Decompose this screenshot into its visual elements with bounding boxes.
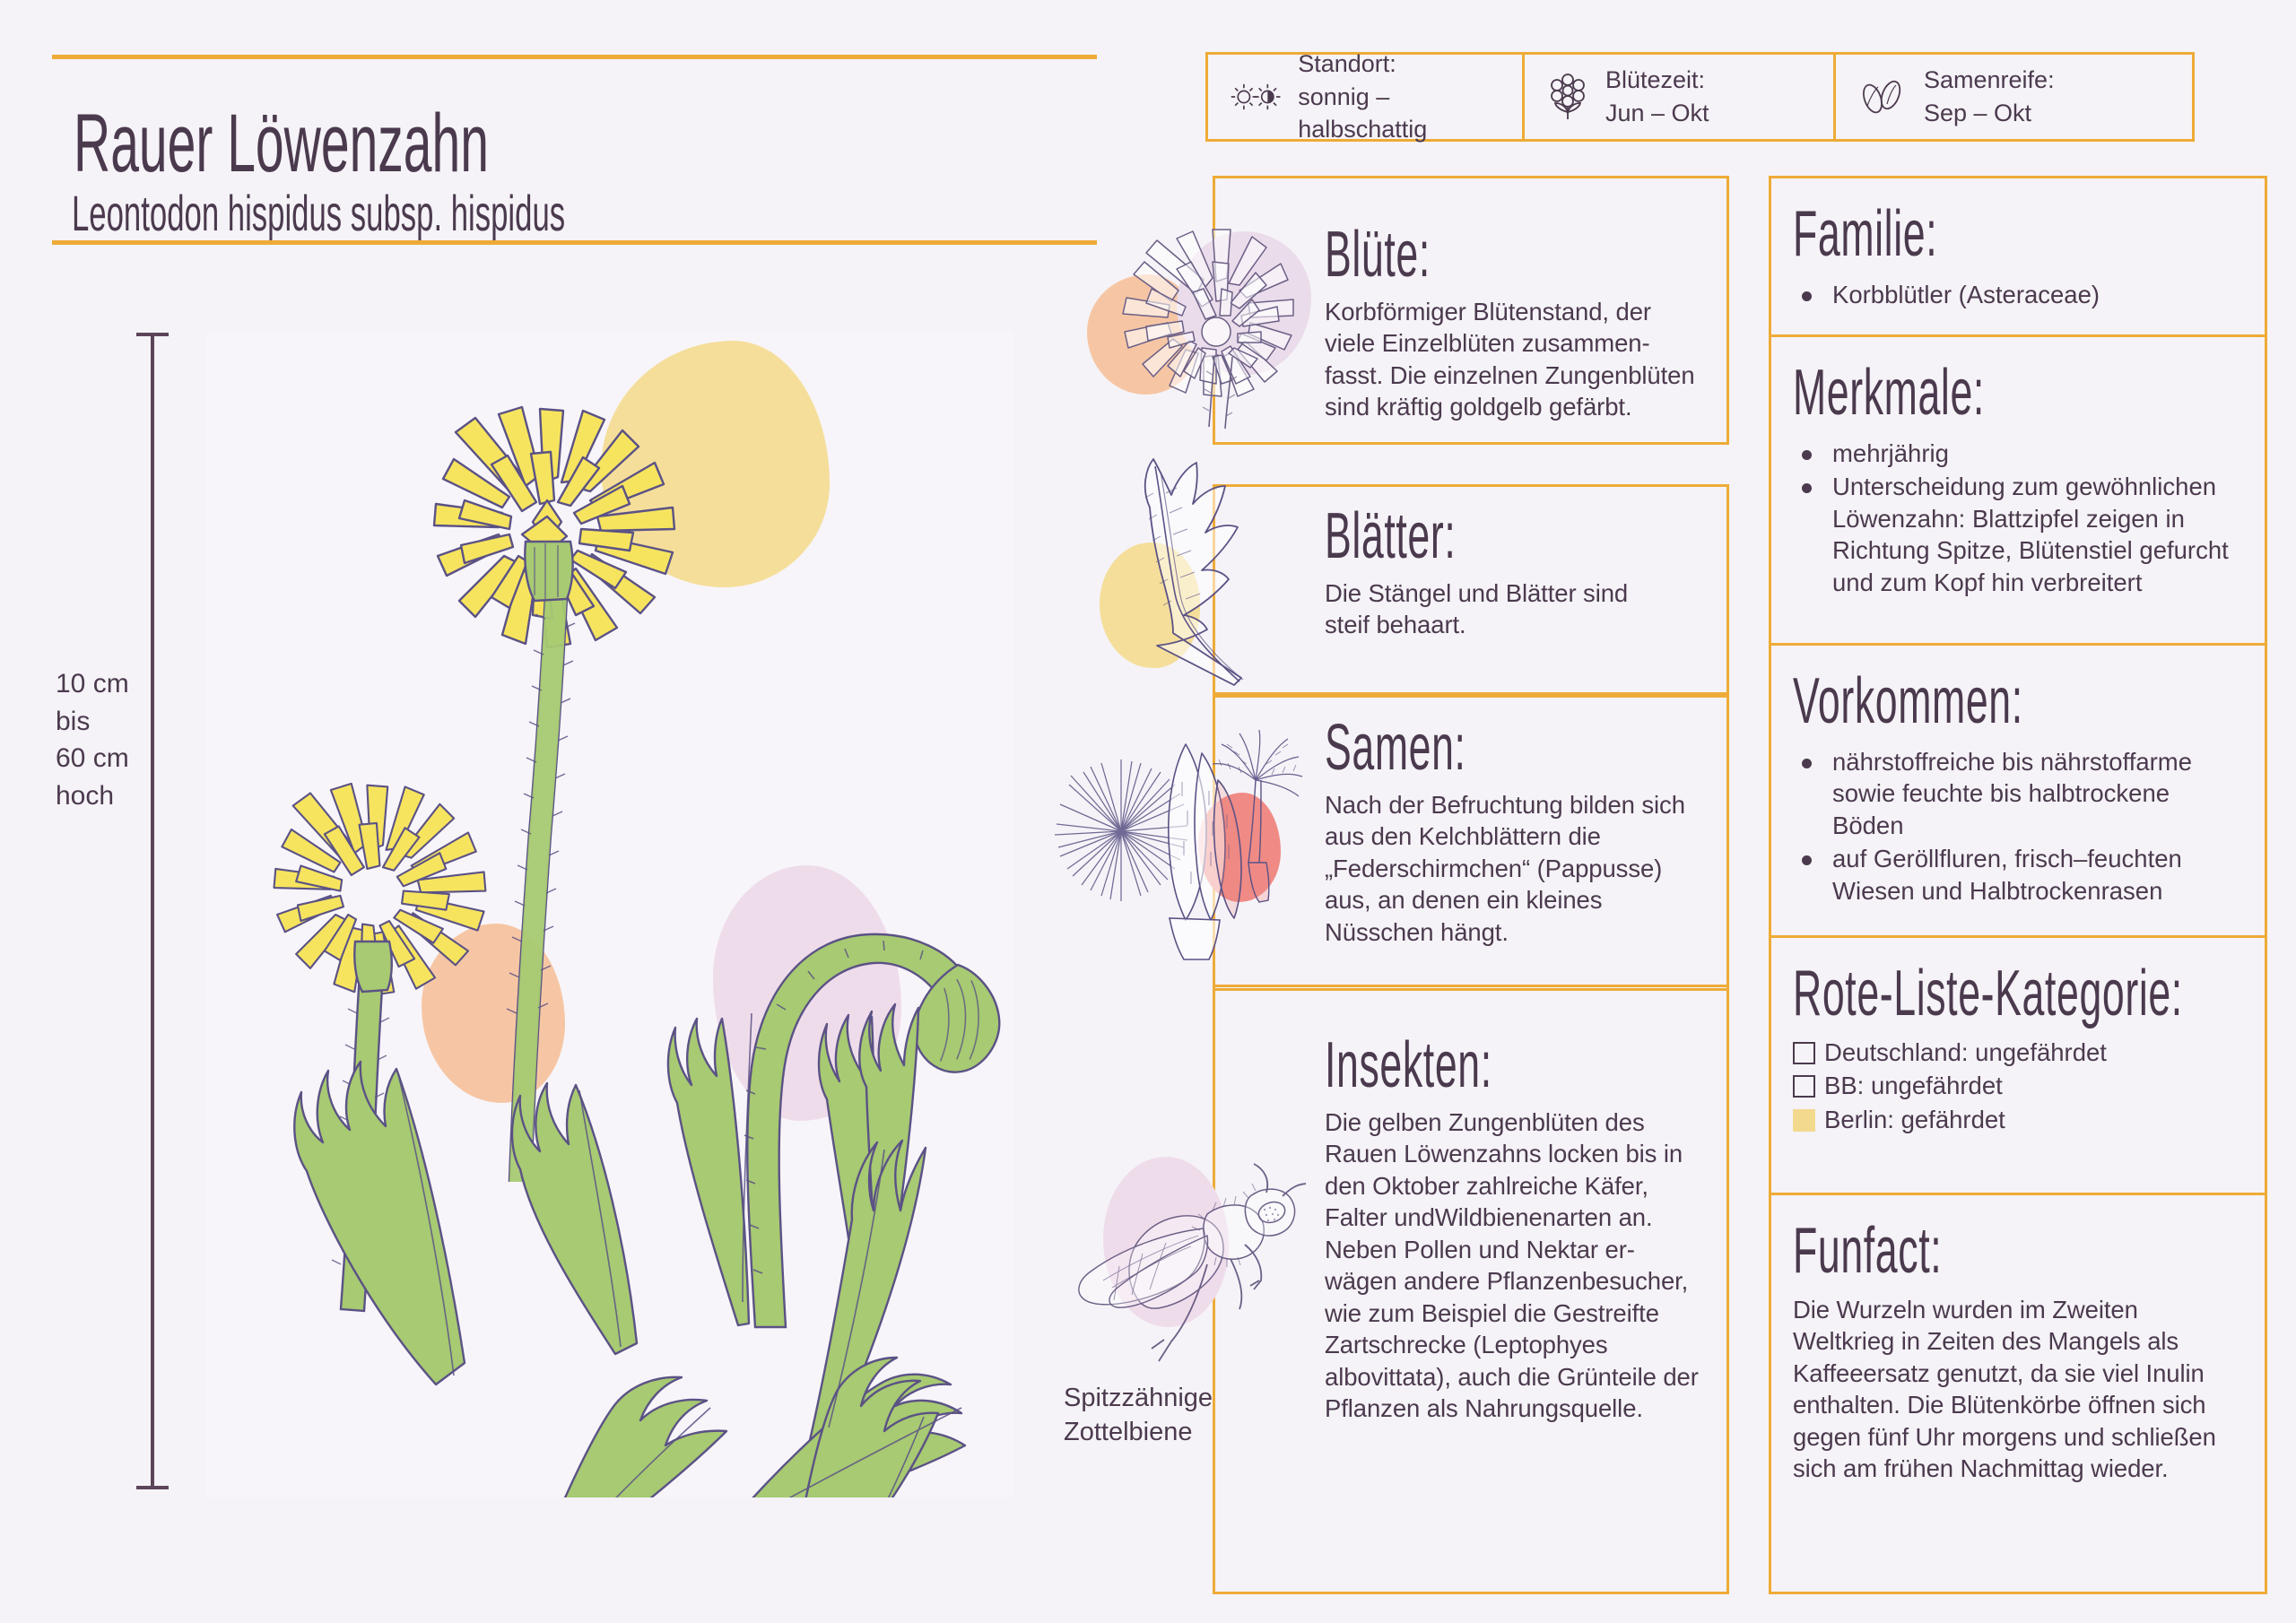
- bee-caption-line-2: Zottelbiene: [1064, 1415, 1213, 1449]
- insekten-line-6: wägen andere Pflanzenbesucher,: [1325, 1265, 1728, 1297]
- dandelion-plant-drawing: [206, 332, 1013, 1497]
- section-text-bluete: Blüte: Korbförmiger Blütenstand, der vie…: [1325, 222, 1719, 423]
- bluete-line-4: sind kräftig goldgelb gefärbt.: [1325, 391, 1719, 422]
- panel-merkmale-heading: Merkmale:: [1793, 360, 2073, 425]
- quickfact-bluetezeit-label: Blütezeit:: [1605, 64, 1709, 97]
- quickfact-bluetezeit-value: Jun – Okt: [1605, 97, 1709, 130]
- header-rule-bottom: [52, 240, 1097, 245]
- insekten-line-3: den Oktober zahlreiche Käfer,: [1325, 1170, 1728, 1202]
- flower-head-illustration: [1091, 213, 1306, 438]
- rote-liste-label: BB: ungefährdet: [1824, 1072, 2003, 1100]
- bluete-line-3: fasst. Die einzelnen Zungenblüten: [1325, 360, 1719, 391]
- bee-caption: Spitzzähnige Zottelbiene: [1064, 1381, 1213, 1450]
- section-heading-insekten: Insekten:: [1325, 1033, 1575, 1098]
- funfact-line-5: gegen fünf Uhr morgens und schließen: [1793, 1421, 2245, 1453]
- panel-vorkommen-list: nährstoffreiche bis nährstoffarme sowie …: [1793, 746, 2245, 907]
- quickfact-standort-text: Standort: sonnig – halbschattig: [1298, 48, 1499, 146]
- panel-rote-liste: Rote-Liste-Kategorie: Deutschland: ungef…: [1769, 935, 2267, 1195]
- header-rule-top: [52, 55, 1097, 59]
- section-text-samen: Samen: Nach der Befruchtung bilden sich …: [1325, 716, 1728, 948]
- section-body-insekten: Die gelben Zungenblüten des Rauen Löwenz…: [1325, 1107, 1728, 1425]
- panel-funfact-body: Die Wurzeln wurden im Zweiten Weltkrieg …: [1793, 1294, 2245, 1485]
- samen-line-2: aus den Kelchblättern die: [1325, 820, 1728, 852]
- scientific-name-text: Leontodon hispidus subsp. hispidus: [72, 184, 683, 242]
- samen-line-5: Nüsschen hängt.: [1325, 916, 1728, 948]
- height-scale-label: 10 cm bis 60 cm hoch: [56, 665, 129, 815]
- bee-illustration: [1073, 1146, 1306, 1379]
- infographic-page: Rauer Löwenzahn Leontodon hispidus subsp…: [0, 0, 2296, 1623]
- checkbox-filled-icon[interactable]: [1793, 1109, 1815, 1132]
- panel-rote-liste-heading: Rote-Liste-Kategorie:: [1793, 961, 2073, 1026]
- seed-drawing: [1051, 728, 1311, 961]
- bee-caption-line-1: Spitzzähnige: [1064, 1381, 1213, 1415]
- page-title: Rauer Löwenzahn: [74, 97, 1060, 178]
- quickfact-bluetezeit-text: Blütezeit: Jun – Okt: [1605, 64, 1709, 129]
- panel-familie-heading: Familie:: [1793, 202, 2073, 266]
- panel-familie-list: Korbblütler (Asteraceae): [1793, 279, 2245, 310]
- list-item: mehrjährig: [1793, 438, 2245, 469]
- quickfacts-strip: Standort: sonnig – halbschattig: [1205, 52, 2195, 142]
- insekten-line-2: Rauen Löwenzahns locken bis in: [1325, 1138, 1728, 1169]
- page-title-text: Rauer Löwenzahn: [74, 97, 685, 191]
- panel-funfact-heading: Funfact:: [1793, 1219, 2073, 1283]
- panel-merkmale: Merkmale: mehrjährig Unterscheidung zum …: [1769, 334, 2267, 646]
- funfact-line-1: Die Wurzeln wurden im Zweiten: [1793, 1294, 2245, 1325]
- funfact-line-2: Weltkrieg in Zeiten des Mangels als: [1793, 1325, 2245, 1357]
- bluete-line-2: viele Einzelblüten zusammen-: [1325, 327, 1719, 359]
- height-line-1: 10 cm: [56, 665, 129, 703]
- quickfact-samenreife-value: Sep – Okt: [1924, 97, 2055, 130]
- flower-head-drawing: [1091, 213, 1306, 438]
- height-scale-cap-top: [136, 333, 169, 336]
- list-item: Korbblütler (Asteraceae): [1793, 279, 2245, 310]
- insekten-line-8: Zartschrecke (Leptophyes: [1325, 1329, 1728, 1360]
- panel-familie: Familie: Korbblütler (Asteraceae): [1769, 176, 2267, 337]
- seeds-icon: [1857, 77, 1908, 117]
- checkbox-unchecked-icon[interactable]: [1793, 1042, 1815, 1064]
- blaetter-line-2: steif behaart.: [1325, 609, 1719, 640]
- height-scale-cap-bottom: [136, 1486, 169, 1489]
- insekten-line-1: Die gelben Zungenblüten des: [1325, 1107, 1728, 1138]
- panel-vorkommen-heading: Vorkommen:: [1793, 669, 2073, 733]
- section-heading-samen: Samen:: [1325, 716, 1575, 780]
- insekten-line-5: Neben Pollen und Nektar er-: [1325, 1234, 1728, 1265]
- section-text-insekten: Insekten: Die gelben Zungenblüten des Ra…: [1325, 1033, 1728, 1425]
- quickfact-standort-value: sonnig – halbschattig: [1298, 81, 1499, 146]
- blaetter-line-1: Die Stängel und Blätter sind: [1325, 577, 1719, 609]
- section-body-samen: Nach der Befruchtung bilden sich aus den…: [1325, 789, 1728, 948]
- rote-liste-entry-deutschland[interactable]: Deutschland: ungefährdet: [1793, 1038, 2245, 1067]
- quickfact-standort-label: Standort:: [1298, 48, 1499, 81]
- height-line-4: hoch: [56, 777, 129, 815]
- section-text-blaetter: Blätter: Die Stängel und Blätter sind st…: [1325, 504, 1719, 641]
- samen-line-1: Nach der Befruchtung bilden sich: [1325, 789, 1728, 820]
- funfact-line-3: Kaffeeersatz genutzt, da sie viel Inulin: [1793, 1358, 2245, 1389]
- quickfact-samenreife-text: Samenreife: Sep – Okt: [1924, 64, 2055, 129]
- checkbox-unchecked-icon[interactable]: [1793, 1075, 1815, 1098]
- rote-liste-entry-bb[interactable]: BB: ungefährdet: [1793, 1072, 2245, 1100]
- rote-liste-label: Deutschland: ungefährdet: [1824, 1038, 2107, 1067]
- section-body-blaetter: Die Stängel und Blätter sind steif behaa…: [1325, 577, 1719, 641]
- quickfact-samenreife: Samenreife: Sep – Okt: [1833, 52, 2195, 142]
- insekten-line-10: Pflanzen als Nahrungsquelle.: [1325, 1393, 1728, 1424]
- insekten-line-9: albovittata), auch die Grünteile der: [1325, 1361, 1728, 1393]
- panel-vorkommen: Vorkommen: nährstoffreiche bis nährstoff…: [1769, 643, 2267, 938]
- rote-liste-label: Berlin: gefährdet: [1824, 1106, 2005, 1134]
- insekten-line-7: wie zum Beispiel die Gestreifte: [1325, 1298, 1728, 1329]
- plant-illustration-panel: [206, 332, 1013, 1497]
- samen-line-3: „Federschirmchen“ (Pappusse): [1325, 853, 1728, 884]
- leaf-illustration: [1091, 457, 1306, 717]
- height-line-3: 60 cm: [56, 740, 129, 777]
- bluete-line-1: Korbförmiger Blütenstand, der: [1325, 296, 1719, 327]
- rote-liste-entry-berlin[interactable]: Berlin: gefährdet: [1793, 1106, 2245, 1134]
- height-line-2: bis: [56, 703, 129, 741]
- seed-pappus-illustration: [1051, 728, 1311, 961]
- quickfact-samenreife-label: Samenreife:: [1924, 64, 2055, 97]
- list-item: nährstoffreiche bis nährstoffarme sowie …: [1793, 746, 2245, 841]
- leaf-drawing: [1091, 457, 1306, 717]
- bee-drawing: [1073, 1146, 1306, 1379]
- flower-icon: [1546, 73, 1589, 121]
- section-body-bluete: Korbförmiger Blütenstand, der viele Einz…: [1325, 296, 1719, 423]
- panel-merkmale-list: mehrjährig Unterscheidung zum gewöhnlich…: [1793, 438, 2245, 598]
- sun-half-shade-icon: [1230, 77, 1282, 117]
- list-item: auf Geröllfluren, frisch–feuchten Wiesen…: [1793, 843, 2245, 907]
- panel-funfact: Funfact: Die Wurzeln wurden im Zweiten W…: [1769, 1193, 2267, 1594]
- quickfact-standort: Standort: sonnig – halbschattig: [1205, 52, 1525, 142]
- funfact-line-6: sich am frühen Nachmittag wieder.: [1793, 1453, 2245, 1484]
- quickfact-bluetezeit: Blütezeit: Jun – Okt: [1522, 52, 1836, 142]
- height-scale-bar: [151, 333, 154, 1489]
- section-heading-bluete: Blüte:: [1325, 222, 1570, 287]
- scientific-name: Leontodon hispidus subsp. hispidus: [72, 184, 1058, 229]
- insekten-line-4: Falter undWildbienenarten an.: [1325, 1202, 1728, 1233]
- funfact-line-4: enthalten. Die Blütenkörbe öffnen sich: [1793, 1389, 2245, 1420]
- list-item: Unterscheidung zum gewöhnlichen Löwenzah…: [1793, 471, 2245, 598]
- samen-line-4: aus, an denen ein kleines: [1325, 884, 1728, 916]
- section-heading-blaetter: Blätter:: [1325, 504, 1570, 568]
